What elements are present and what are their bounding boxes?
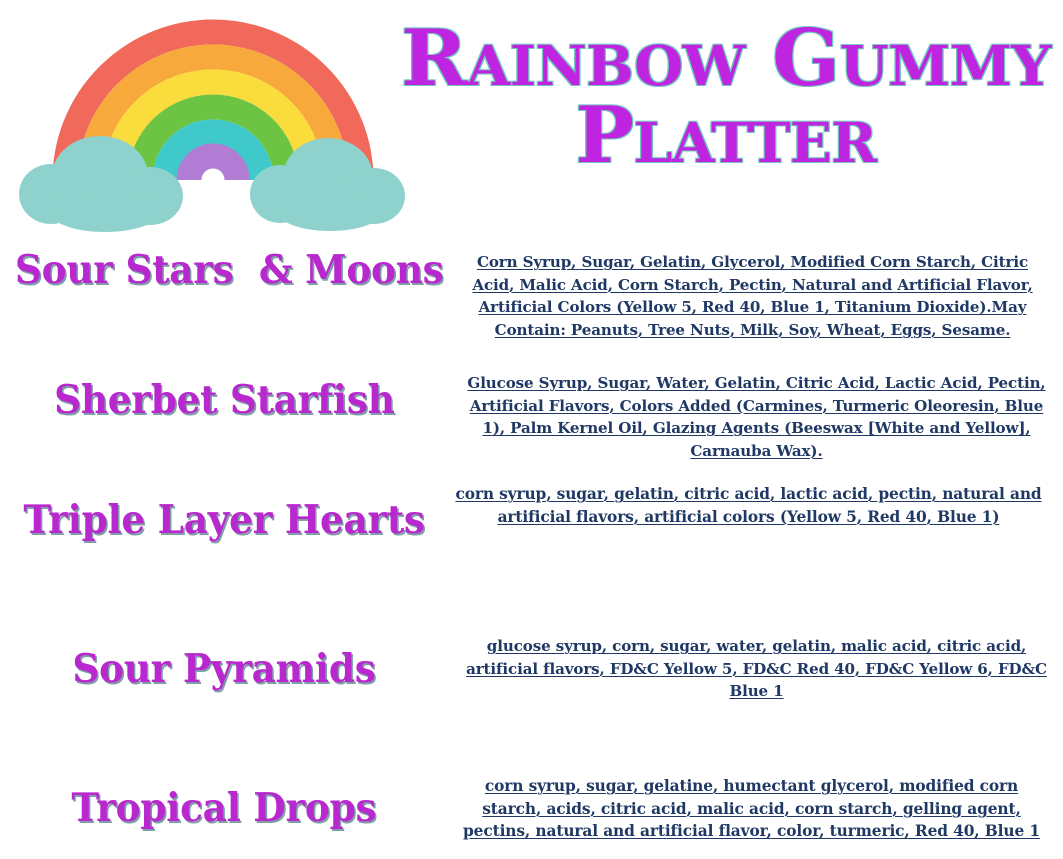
menu-item-name-cell: Sherbet Starfish [0, 356, 448, 422]
menu-item-row: Triple Layer Hearts corn syrup, sugar, g… [0, 476, 1063, 598]
rainbow-with-clouds-illustration [8, 4, 418, 232]
menu-item-name-cell: Triple Layer Hearts [0, 476, 448, 542]
menu-item-row: Sour Stars & Moons Corn Syrup, Sugar, Ge… [0, 240, 1063, 356]
menu-item-name: Tropical Drops [72, 786, 377, 830]
menu-item-ingredients-cell: corn syrup, sugar, gelatine, humectant g… [448, 738, 1063, 843]
menu-item-name: Sour Stars & Moons [15, 248, 444, 292]
menu-item-name: Triple Layer Hearts [23, 498, 424, 542]
menu-item-ingredients-cell: Glucose Syrup, Sugar, Water, Gelatin, Ci… [448, 356, 1063, 462]
menu-item-ingredients: Glucose Syrup, Sugar, Water, Gelatin, Ci… [464, 372, 1049, 462]
menu-item-row: Sherbet Starfish Glucose Syrup, Sugar, W… [0, 356, 1063, 476]
menu-list: Sour Stars & Moons Corn Syrup, Sugar, Ge… [0, 240, 1063, 859]
menu-item-name-cell: Tropical Drops [0, 738, 448, 830]
page-title-line-2: Platter [396, 98, 1056, 174]
menu-item-ingredients-cell: Corn Syrup, Sugar, Gelatin, Glycerol, Mo… [448, 240, 1063, 341]
menu-item-ingredients-cell: corn syrup, sugar, gelatin, citric acid,… [448, 476, 1063, 528]
menu-item-row: Tropical Drops corn syrup, sugar, gelati… [0, 738, 1063, 859]
menu-item-row: Sour Pyramids glucose syrup, corn, sugar… [0, 598, 1063, 738]
menu-item-name-cell: Sour Pyramids [0, 598, 448, 691]
page-title-line-1: Rainbow Gummy [389, 14, 1062, 104]
header: Rainbow Gummy Platter [0, 0, 1063, 240]
menu-item-ingredients: glucose syrup, corn, sugar, water, gelat… [464, 635, 1049, 703]
menu-item-ingredients: Corn Syrup, Sugar, Gelatin, Glycerol, Mo… [456, 251, 1049, 341]
menu-item-name-cell: Sour Stars & Moons [0, 240, 448, 292]
menu-item-ingredients: corn syrup, sugar, gelatin, citric acid,… [448, 483, 1049, 528]
menu-item-ingredients-cell: glucose syrup, corn, sugar, water, gelat… [448, 598, 1063, 703]
page-title: Rainbow Gummy Platter [396, 14, 1056, 199]
menu-item-name: Sour Pyramids [72, 647, 375, 691]
menu-item-name: Sherbet Starfish [54, 378, 394, 422]
menu-item-ingredients: corn syrup, sugar, gelatine, humectant g… [454, 775, 1049, 843]
